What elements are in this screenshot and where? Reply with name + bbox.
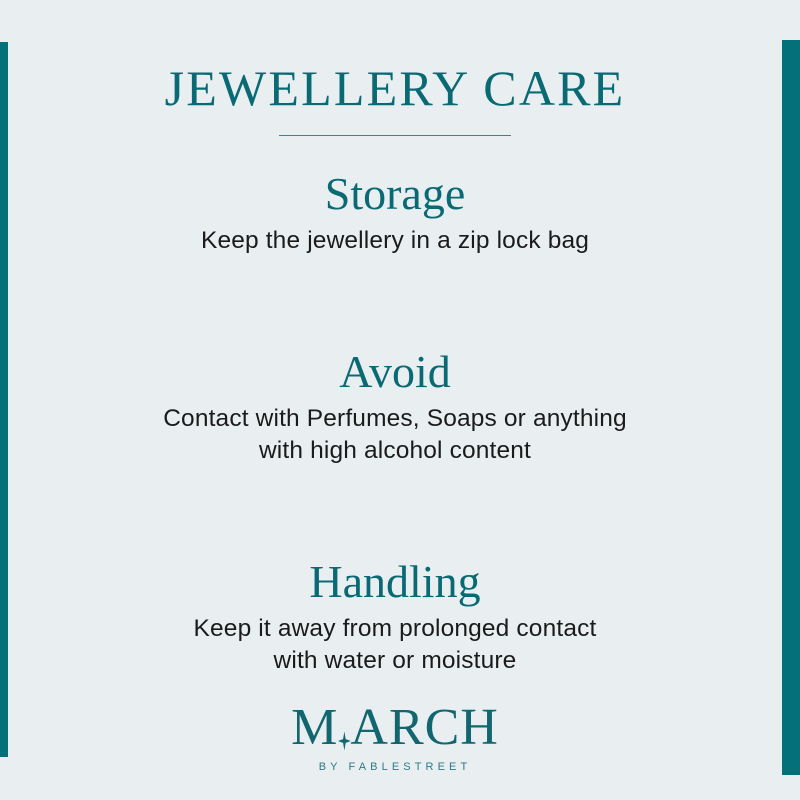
wordmark-letter-a: A xyxy=(350,702,389,754)
body-line: with water or moisture xyxy=(8,645,782,677)
four-pointed-star-icon xyxy=(337,730,351,752)
body-line: Contact with Perfumes, Soaps or anything xyxy=(8,403,782,435)
section-heading-storage: Storage xyxy=(8,169,782,219)
wordmark-letters-rch: RCH xyxy=(389,702,499,754)
section-storage: Storage Keep the jewellery in a zip lock… xyxy=(8,169,782,257)
body-line: Keep it away from prolonged contact xyxy=(8,613,782,645)
left-accent-bar xyxy=(0,42,8,757)
section-avoid: Avoid Contact with Perfumes, Soaps or an… xyxy=(8,347,782,467)
body-line: with high alcohol content xyxy=(8,435,782,467)
section-heading-avoid: Avoid xyxy=(8,347,782,397)
wordmark-letter-m: M xyxy=(291,702,338,754)
page-title: JEWELLERY CARE xyxy=(165,62,626,115)
body-line: Keep the jewellery in a zip lock bag xyxy=(8,225,782,257)
section-body-storage: Keep the jewellery in a zip lock bag xyxy=(8,225,782,257)
section-heading-handling: Handling xyxy=(8,557,782,607)
card-content: JEWELLERY CARE Storage Keep the jeweller… xyxy=(8,0,782,800)
brand-tagline: BY FABLESTREET xyxy=(8,761,782,773)
right-accent-bar xyxy=(782,40,800,775)
section-handling: Handling Keep it away from prolonged con… xyxy=(8,557,782,677)
brand-logo: M A RCH BY FABLESTREET xyxy=(8,706,782,773)
jewellery-care-card: JEWELLERY CARE Storage Keep the jeweller… xyxy=(0,0,800,800)
section-body-handling: Keep it away from prolonged contact with… xyxy=(8,613,782,676)
section-body-avoid: Contact with Perfumes, Soaps or anything… xyxy=(8,403,782,466)
brand-wordmark: M A RCH xyxy=(291,706,499,754)
title-divider xyxy=(279,135,511,136)
